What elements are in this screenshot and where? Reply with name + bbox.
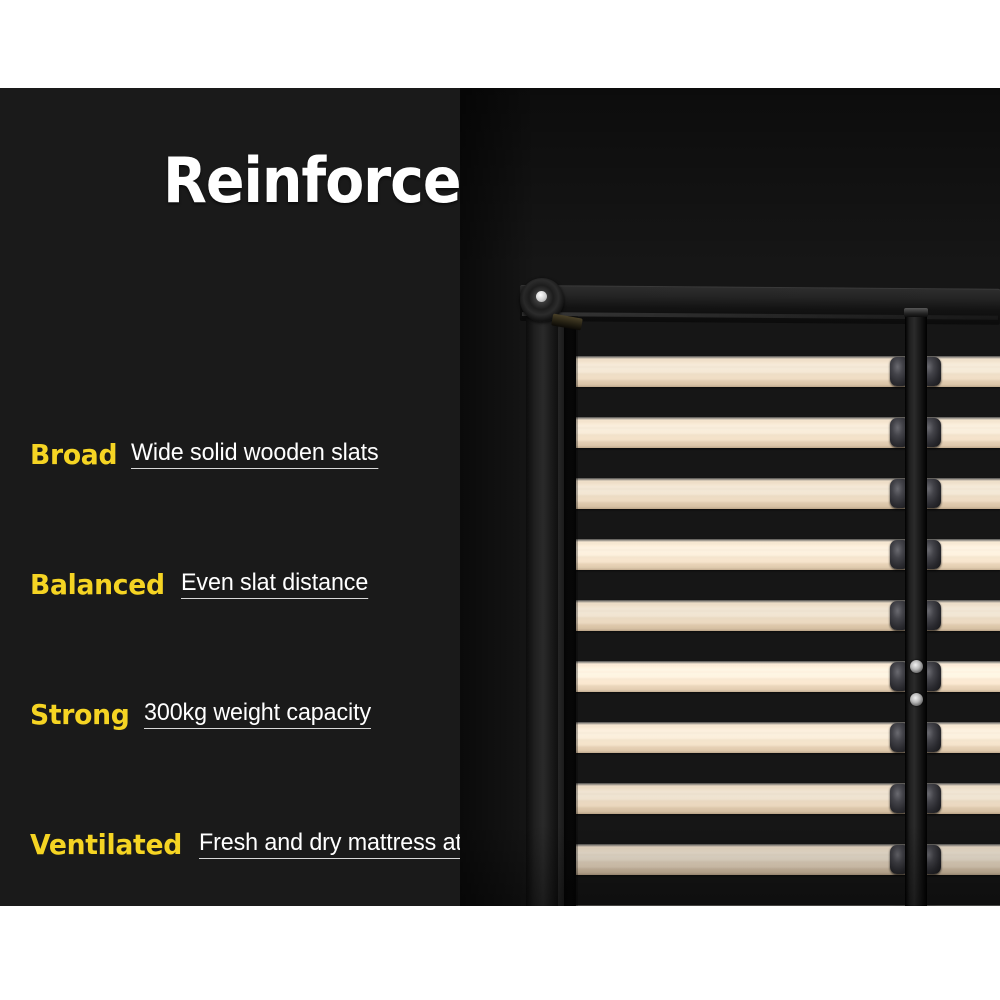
slat-grain: [575, 905, 907, 906]
slat-grain: [575, 661, 907, 692]
wooden-slat: [575, 905, 907, 906]
wooden-slat: [575, 478, 907, 509]
wooden-slat: [575, 600, 907, 631]
wooden-slat: [927, 905, 1000, 906]
feature-key-strong: Strong: [30, 700, 130, 729]
slat-grain: [575, 722, 907, 753]
wooden-slat: [575, 661, 907, 692]
product-photo-bed-slats: [460, 88, 1000, 906]
center-support-beam: [905, 313, 927, 906]
feature-row-balanced: Balanced Even slat distance: [30, 570, 374, 599]
feature-key-balanced: Balanced: [30, 570, 165, 599]
feature-desc-strong: 300kg weight capacity: [144, 700, 371, 729]
slat-grain: [575, 539, 907, 570]
feature-key-ventilated: Ventilated: [30, 830, 182, 859]
wooden-slat: [575, 783, 907, 814]
product-feature-graphic: Reinforced thick slats Broad Wide solid …: [0, 0, 1000, 1000]
feature-row-broad: Broad Wide solid wooden slats: [30, 440, 386, 469]
slat-grain: [575, 783, 907, 814]
wooden-slat: [575, 356, 907, 387]
beam-screw-upper: [910, 660, 923, 673]
wooden-slat: [575, 417, 907, 448]
slat-grain: [575, 844, 907, 875]
wooden-slat: [575, 844, 907, 875]
feature-row-strong: Strong 300kg weight capacity: [30, 700, 378, 729]
feature-key-broad: Broad: [30, 440, 117, 469]
slat-grain: [575, 417, 907, 448]
feature-desc-balanced: Even slat distance: [181, 570, 368, 599]
wooden-slat: [575, 722, 907, 753]
center-beam-top-cap: [904, 308, 928, 317]
feature-desc-broad: Wide solid wooden slats: [131, 440, 379, 469]
corner-bolt-highlight: [536, 291, 547, 302]
wooden-slat: [575, 539, 907, 570]
side-rail-shadow-gutter: [564, 316, 578, 906]
beam-screw-lower: [910, 693, 923, 706]
slat-grain: [575, 478, 907, 509]
dark-content-panel: Reinforced thick slats Broad Wide solid …: [0, 88, 1000, 906]
slat-grain: [927, 905, 1000, 906]
slat-grain: [575, 600, 907, 631]
slat-grain: [575, 356, 907, 387]
